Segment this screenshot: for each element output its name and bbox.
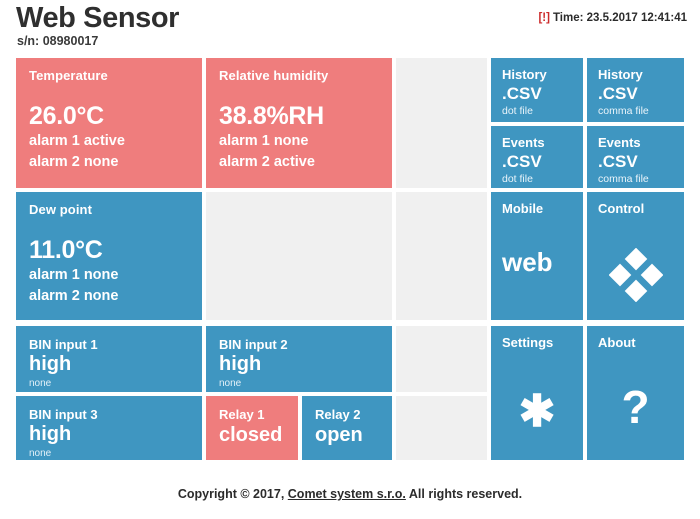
history-comma-format: .CSV xyxy=(598,84,638,104)
diamonds-icon xyxy=(587,248,684,306)
tile-grid: Temperature 26.0°C alarm 1 active alarm … xyxy=(0,0,700,519)
tile-bin-input-3[interactable]: BIN input 3 high none xyxy=(16,396,202,460)
tile-relative-humidity[interactable]: Relative humidity 38.8%RH alarm 1 none a… xyxy=(206,58,392,188)
events-comma-subtitle: comma file xyxy=(598,173,649,185)
question-mark-icon: ? xyxy=(587,384,684,430)
events-dot-subtitle: dot file xyxy=(502,173,533,185)
events-dot-format: .CSV xyxy=(502,152,542,172)
relay-1-label: Relay 1 xyxy=(219,407,265,422)
dew-point-alarm-1: alarm 1 none xyxy=(29,267,118,283)
bin-input-2-label: BIN input 2 xyxy=(219,337,288,352)
bin-input-2-value: high xyxy=(219,353,261,376)
bin-input-2-sub: none xyxy=(219,378,241,389)
company-link[interactable]: Comet system s.r.o. xyxy=(288,487,406,501)
tile-empty-slot-5 xyxy=(396,396,487,460)
relay-2-label: Relay 2 xyxy=(315,407,361,422)
settings-title: Settings xyxy=(502,335,553,350)
bin-input-1-sub: none xyxy=(29,378,51,389)
tile-temperature[interactable]: Temperature 26.0°C alarm 1 active alarm … xyxy=(16,58,202,188)
temperature-alarm-2: alarm 2 none xyxy=(29,154,118,170)
tile-history-csv-dot[interactable]: History .CSV dot file xyxy=(491,58,583,122)
bin-input-3-sub: none xyxy=(29,448,51,459)
humidity-alarm-2: alarm 2 active xyxy=(219,154,315,170)
humidity-label: Relative humidity xyxy=(219,68,328,83)
asterisk-icon: ✱ xyxy=(491,390,583,434)
tile-mobile-web[interactable]: Mobile web xyxy=(491,192,583,320)
copyright-suffix: All rights reserved. xyxy=(406,487,522,501)
tile-empty-slot-2 xyxy=(206,192,392,320)
temperature-label: Temperature xyxy=(29,68,108,83)
mobile-title: Mobile xyxy=(502,201,543,216)
dew-point-alarm-2: alarm 2 none xyxy=(29,288,118,304)
dew-point-value: 11.0°C xyxy=(29,236,103,265)
bin-input-3-label: BIN input 3 xyxy=(29,407,98,422)
relay-2-value: open xyxy=(315,424,363,447)
history-dot-title: History xyxy=(502,67,547,82)
tile-bin-input-1[interactable]: BIN input 1 high none xyxy=(16,326,202,392)
tile-control[interactable]: Control xyxy=(587,192,684,320)
relay-1-value: closed xyxy=(219,424,282,447)
humidity-value: 38.8%RH xyxy=(219,102,324,131)
tile-empty-slot-4 xyxy=(396,326,487,392)
history-comma-title: History xyxy=(598,67,643,82)
bin-input-3-value: high xyxy=(29,423,71,446)
bin-input-1-value: high xyxy=(29,353,71,376)
history-dot-format: .CSV xyxy=(502,84,542,104)
about-title: About xyxy=(598,335,636,350)
tile-history-csv-comma[interactable]: History .CSV comma file xyxy=(587,58,684,122)
tile-relay-1[interactable]: Relay 1 closed xyxy=(206,396,298,460)
tile-empty-slot-1 xyxy=(396,58,487,188)
control-title: Control xyxy=(598,201,644,216)
tile-bin-input-2[interactable]: BIN input 2 high none xyxy=(206,326,392,392)
tile-relay-2[interactable]: Relay 2 open xyxy=(302,396,392,460)
page-footer: Copyright © 2017, Comet system s.r.o. Al… xyxy=(0,478,700,519)
history-comma-subtitle: comma file xyxy=(598,105,649,117)
events-dot-title: Events xyxy=(502,135,545,150)
copyright-prefix: Copyright © 2017, xyxy=(178,487,288,501)
humidity-alarm-1: alarm 1 none xyxy=(219,133,308,149)
tile-empty-slot-3 xyxy=(396,192,487,320)
tile-settings[interactable]: Settings ✱ xyxy=(491,326,583,460)
tile-about[interactable]: About ? xyxy=(587,326,684,460)
bin-input-1-label: BIN input 1 xyxy=(29,337,98,352)
events-comma-format: .CSV xyxy=(598,152,638,172)
tile-events-csv-dot[interactable]: Events .CSV dot file xyxy=(491,126,583,188)
events-comma-title: Events xyxy=(598,135,641,150)
mobile-web-label: web xyxy=(502,247,553,278)
web-sensor-page: Web Sensor s/n: 08980017 [!]Time: 23.5.2… xyxy=(0,0,700,519)
dew-point-label: Dew point xyxy=(29,202,92,217)
tile-dew-point[interactable]: Dew point 11.0°C alarm 1 none alarm 2 no… xyxy=(16,192,202,320)
history-dot-subtitle: dot file xyxy=(502,105,533,117)
tile-events-csv-comma[interactable]: Events .CSV comma file xyxy=(587,126,684,188)
temperature-alarm-1: alarm 1 active xyxy=(29,133,125,149)
temperature-value: 26.0°C xyxy=(29,102,104,131)
